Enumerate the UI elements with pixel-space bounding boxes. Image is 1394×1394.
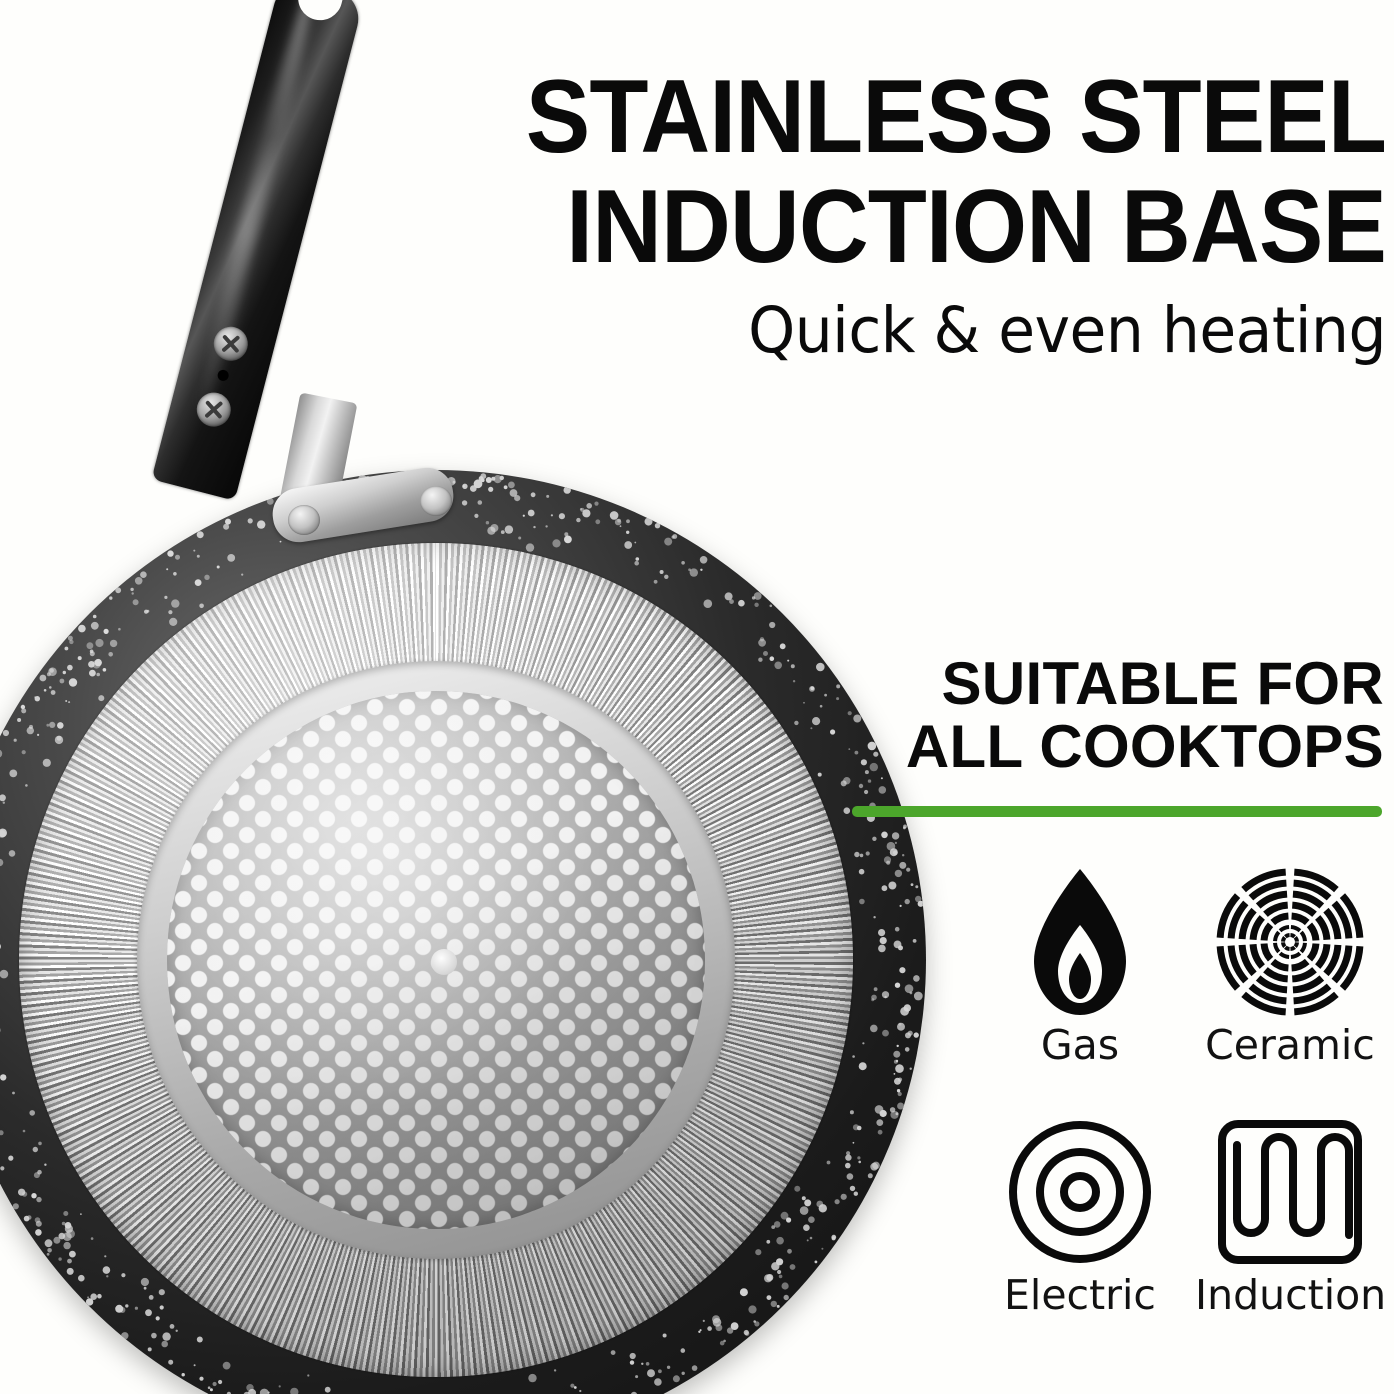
cooktop-label: Induction (1195, 1272, 1385, 1318)
cooktop-label: Ceramic (1195, 1022, 1385, 1068)
cooktop-label: Gas (985, 1022, 1175, 1068)
cooktop-label: Electric (985, 1272, 1175, 1318)
induction-coil-icon (1195, 1112, 1385, 1272)
cooktop-item-induction: Induction (1195, 1112, 1385, 1342)
product-marketing-image: STAINLESS STEEL INDUCTION BASE Quick & e… (0, 0, 1394, 1394)
suitable-for-block: SUITABLE FOR ALL COOKTOPS (864, 652, 1384, 778)
headline-line-2: INDUCTION BASE (475, 172, 1386, 282)
headline-subtitle: Quick & even heating (455, 288, 1386, 374)
suitable-line-1: SUITABLE FOR (864, 652, 1384, 715)
gas-flame-icon (985, 862, 1175, 1022)
frying-pan-base (0, 470, 926, 1394)
electric-coil-icon (985, 1112, 1175, 1272)
bracket-rivet (288, 505, 320, 535)
suitable-line-2: ALL COOKTOPS (864, 715, 1384, 778)
bracket-rivet (420, 486, 452, 516)
headline-block: STAINLESS STEEL INDUCTION BASE Quick & e… (406, 62, 1386, 374)
cooktop-item-gas: Gas (985, 862, 1175, 1092)
induction-dimpled-plate (167, 691, 704, 1228)
cooktop-item-electric: Electric (985, 1112, 1175, 1342)
green-divider-rule (852, 806, 1382, 817)
headline-line-1: STAINLESS STEEL (475, 62, 1386, 172)
cooktop-item-ceramic: Ceramic (1195, 862, 1385, 1092)
ceramic-burner-icon (1195, 862, 1385, 1022)
cooktop-icon-grid: Gas Ceramic Electric (985, 862, 1385, 1342)
plate-center-dot (431, 949, 457, 975)
